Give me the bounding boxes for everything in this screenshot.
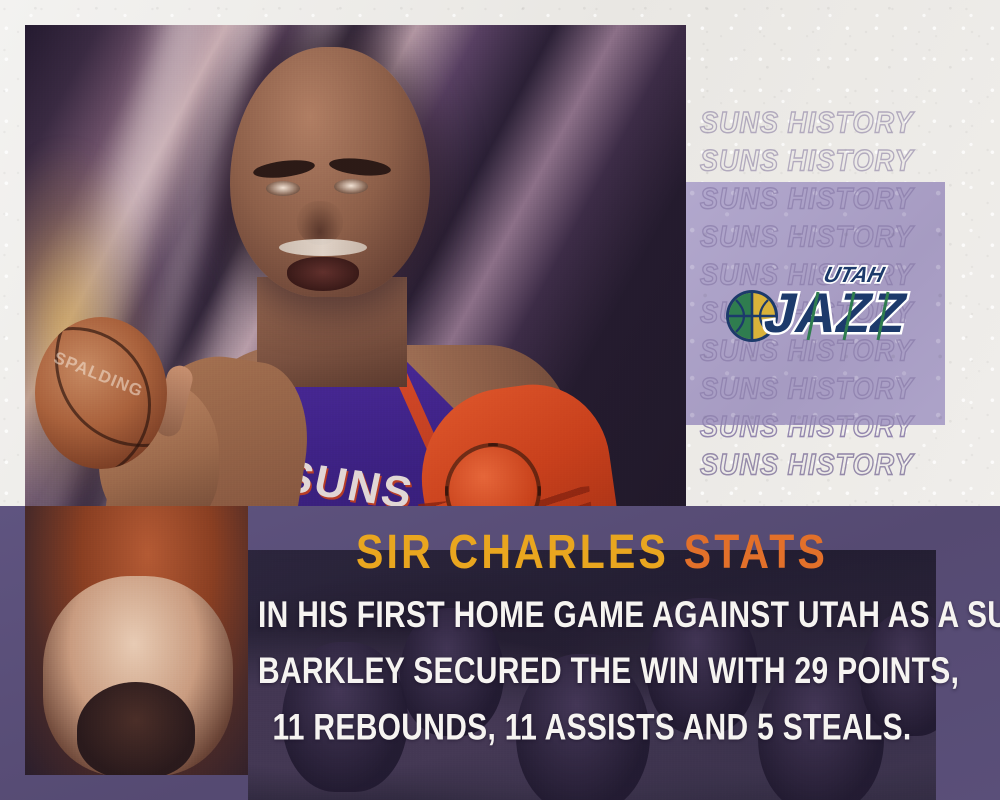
body-line-3: 11 REBOUNDS, 11 ASSISTS AND 5 STEALS. bbox=[258, 700, 926, 756]
graphic-canvas: SUNS HISTORY SUNS HISTORY SUNS HISTORY S… bbox=[0, 0, 1000, 800]
sliver-blurred-head bbox=[77, 682, 195, 775]
title-part-stats: STATS bbox=[684, 524, 828, 578]
utah-jazz-logo: UTAH JAZZ bbox=[722, 252, 922, 352]
title-part-sir-charles: SIR CHARLES bbox=[356, 524, 684, 578]
watermark-line: SUNS HISTORY bbox=[700, 406, 980, 447]
body-line-2: BARKLEY SECURED THE WIN WITH 29 POINTS, bbox=[258, 644, 926, 700]
eye-left bbox=[266, 181, 300, 196]
stat-description: IN HIS FIRST HOME GAME AGAINST UTAH AS A… bbox=[258, 588, 926, 756]
body-line-1: IN HIS FIRST HOME GAME AGAINST UTAH AS A… bbox=[258, 588, 926, 644]
page-title: SIR CHARLES STATS bbox=[248, 528, 936, 576]
mouth bbox=[287, 257, 359, 291]
svg-text:JAZZ: JAZZ bbox=[759, 283, 913, 345]
watermark-line: SUNS HISTORY bbox=[700, 368, 980, 409]
eye-right bbox=[334, 179, 368, 194]
game-basketball bbox=[35, 317, 167, 469]
watermark-line: SUNS HISTORY bbox=[700, 444, 980, 485]
mustache bbox=[279, 239, 367, 256]
watermark-line: SUNS HISTORY bbox=[700, 178, 980, 219]
hero-photo-lower-sliver bbox=[25, 506, 248, 775]
